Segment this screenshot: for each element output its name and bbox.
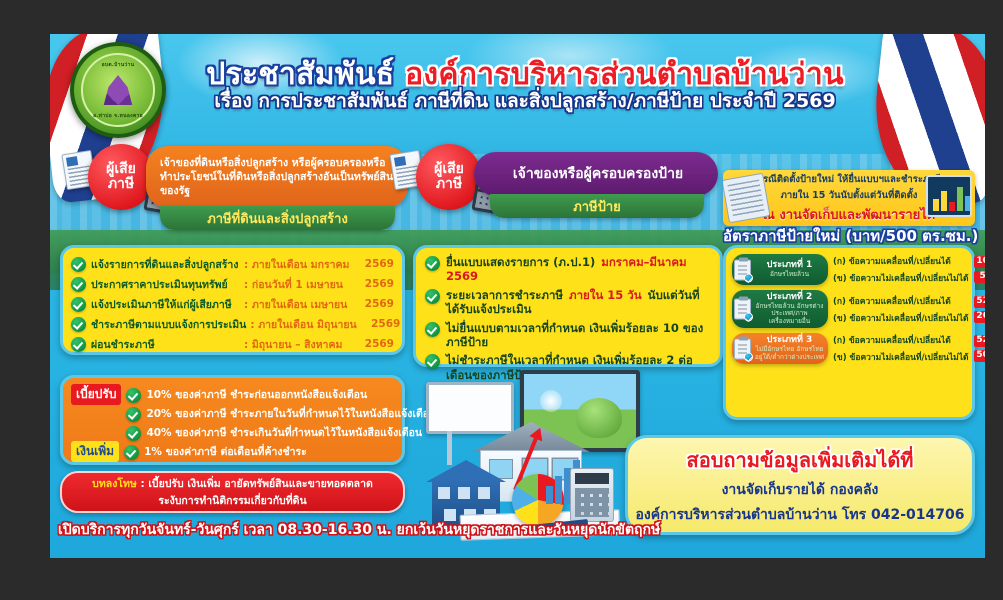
land-taxpayer-description: เจ้าของที่ดินหรือสิ่งปลูกสร้าง หรือผู้คร… [146, 146, 408, 208]
rate-category-sub: อักษรไทยล้วน อักษรต่างประเทศ/ภาพ เครื่อง… [754, 303, 825, 325]
penalty-text: 40% ของค่าภาษี ชำระเกินวันที่กำหนดไว้ในห… [146, 424, 422, 441]
taxpayer-badge-land-line1: ผู้เสีย [106, 162, 136, 177]
punishment-tag: บทลงโทษ [92, 478, 137, 490]
sign-tax-rules-card: ยื่นแบบแสดงรายการ (ภ.ป.1) มกราคม–มีนาคม … [413, 245, 723, 367]
schedule-year: 2569 [360, 258, 394, 270]
rate-line-text: (ก) ข้อความแคลื่อนที่/เปลี่ยนได้ [833, 294, 969, 308]
sign-taxpayer-description-text: เจ้าของหรือผู้ครอบครองป้าย [513, 163, 683, 185]
rate-value: 50 [974, 350, 985, 362]
penalty-tag-fine: เบี้ยปรับ [71, 384, 121, 405]
rate-line-text: (ข) ข้อความไม่เคลื่อนที่/เปลี่ยนไม่ได้ [833, 271, 969, 285]
table-row: แจ้งรายการที่ดินและสิ่งปลูกสร้าง : ภายใน… [71, 254, 394, 274]
notice-line-2: ภายใน 15 วันนับตั้งแต่วันที่ติดตั้ง [781, 188, 918, 203]
taxpayer-badge-sign-line1: ผู้เสีย [434, 162, 464, 177]
check-icon [126, 407, 141, 422]
check-icon [425, 289, 440, 304]
schedule-value: : ภายในเดือน มกราคม [244, 256, 356, 273]
contact-heading: สอบถามข้อมูลเพิ่มเติมได้ที่ [686, 444, 913, 476]
clipboard-check-icon [734, 338, 751, 359]
contact-org-phone[interactable]: องค์การบริหารส่วนตำบลบ้านว่าน โทร 042-01… [636, 504, 965, 526]
schedule-year: 2569 [360, 338, 394, 350]
table-row: แจ้งประเมินภาษีให้แก่ผู้เสียภาษี : ภายใน… [71, 294, 394, 314]
rate-line-text: (ข) ข้อความไม่เคลื่อนที่/เปลี่ยนไม่ได้ [833, 350, 969, 364]
table-row: ชำระภาษีตามแบบแจ้งการประเมิน : ภายในเดือ… [71, 314, 394, 334]
notice-line-3: ณ งานจัดเก็บและพัฒนารายได้ [763, 204, 935, 225]
rate-line-text: (ข) ข้อความไม่เคลื่อนที่/เปลี่ยนไม่ได้ [833, 311, 969, 325]
penalty-text: 20% ของค่าภาษี ชำระภายในวันที่กำหนดไว้ใน… [146, 405, 436, 422]
logo-top-text: อบต.บ้านว่าน [83, 61, 153, 69]
check-icon [425, 256, 440, 271]
temple-emblem-icon [101, 75, 135, 105]
penalty-tag-extra: เงินเพิ่ม [71, 441, 119, 462]
rate-value: 10 [974, 256, 985, 268]
land-taxpayer-description-text: เจ้าของที่ดินหรือสิ่งปลูกสร้าง หรือผู้คร… [160, 156, 398, 199]
schedule-label: ชำระภาษีตามแบบแจ้งการประเมิน [91, 316, 246, 333]
monitor-chart-icon [926, 175, 972, 217]
check-icon [71, 257, 86, 272]
rule-highlight: ภายใน 15 วัน [567, 288, 644, 302]
tab-sign-tax[interactable]: ภาษีป้าย [490, 194, 704, 218]
tab-land-tax[interactable]: ภาษีที่ดินและสิ่งปลูกสร้าง [160, 206, 395, 230]
contact-department: งานจัดเก็บรายได้ กองคลัง [722, 479, 879, 501]
schedule-label: ผ่อนชำระภาษี [91, 336, 240, 353]
sign-taxpayer-description: เจ้าของหรือผู้ครอบครองป้าย [474, 152, 718, 196]
clipboard-check-icon [734, 259, 751, 280]
check-icon [425, 322, 440, 337]
check-icon [71, 277, 86, 292]
list-item: ไม่ยื่นแบบตามเวลาที่กำหนด เงินเพิ่มร้อยล… [425, 321, 711, 350]
rate-category-3: ประเภทที่ 3 ไม่มีอักษรไทย อักษรไทยอยู่ใต… [732, 333, 828, 364]
list-item: เบี้ยปรับ 40% ของค่าภาษี ชำระเกินวันที่ก… [71, 423, 394, 442]
calculator-large-icon [570, 468, 614, 522]
rate-category-1: ประเภทที่ 1 อักษรไทยล้วน [732, 254, 828, 285]
schedule-label: ประกาศราคาประเมินทุนทรัพย์ [91, 276, 240, 293]
punishment-bar: บทลงโทษ : เบี้ยปรับ เงินเพิ่ม อายัดทรัพย… [60, 471, 405, 513]
schedule-year: 2569 [366, 318, 400, 330]
table-row: ประเภทที่ 1 อักษรไทยล้วน (ก) ข้อความแคลื… [732, 254, 966, 285]
penalty-text: 10% ของค่าภาษี ชำระก่อนออกหนังสือแจ้งเตื… [146, 386, 367, 403]
schedule-label: แจ้งรายการที่ดินและสิ่งปลูกสร้าง [91, 256, 240, 273]
table-row: ผ่อนชำระภาษี : มิถุนายน – สิงหาคม 2569 [71, 334, 394, 354]
check-icon [126, 426, 141, 441]
land-tax-schedule-card: แจ้งรายการที่ดินและสิ่งปลูกสร้าง : ภายใน… [60, 245, 405, 355]
tablet-document-icon [723, 173, 771, 224]
check-icon [124, 445, 139, 460]
office-hours: เปิดบริการทุกวันจันทร์-วันศุกร์ เวลา 08.… [58, 519, 618, 541]
check-icon [71, 317, 86, 332]
schedule-value: : ภายในเดือน มิถุนายน [250, 316, 362, 333]
rate-value: 5 [974, 271, 985, 283]
punishment-line-1: : เบี้ยปรับ เงินเพิ่ม อายัดทรัพย์สินและข… [140, 478, 372, 490]
contact-card: สอบถามข้อมูลเพิ่มเติมได้ที่ งานจัดเก็บรา… [625, 435, 975, 535]
new-sign-notice: กรณีติดตั้งป้ายใหม่ ให้ยื่นแบบฯและชำระภา… [723, 170, 975, 226]
rule-text: ยื่นแบบแสดงรายการ (ภ.ป.1) [446, 255, 599, 269]
check-icon [126, 388, 141, 403]
schedule-value: : ภายในเดือน เมษายน [244, 296, 356, 313]
table-row: ประเภทที่ 2 อักษรไทยล้วน อักษรต่างประเทศ… [732, 290, 966, 328]
list-item: เบี้ยปรับ 10% ของค่าภาษี ชำระก่อนออกหนัง… [71, 385, 394, 404]
poster: อบต.บ้านว่าน อ.ท่าบ่อ จ.หนองคาย ประชาสัม… [50, 34, 985, 558]
rate-value: 26 [974, 311, 985, 323]
notice-line-1: กรณีติดตั้งป้ายใหม่ ให้ยื่นแบบฯและชำระภา… [757, 172, 941, 187]
schedule-value: : ก่อนวันที่ 1 เมษายน [244, 276, 356, 293]
rate-category-2: ประเภทที่ 2 อักษรไทยล้วน อักษรต่างประเทศ… [732, 290, 828, 328]
logo-bottom-text: อ.ท่าบ่อ จ.หนองคาย [83, 112, 153, 120]
list-item: เงินเพิ่ม 1% ของค่าภาษี ต่อเดือนที่ค้างช… [71, 442, 394, 461]
organization-logo: อบต.บ้านว่าน อ.ท่าบ่อ จ.หนองคาย [70, 42, 166, 138]
page-subtitle: เรื่อง การประชาสัมพันธ์ ภาษีที่ดิน และสิ… [175, 86, 875, 116]
schedule-label: แจ้งประเมินภาษีให้แก่ผู้เสียภาษี [91, 296, 240, 313]
rate-category-sub: อักษรไทยล้วน [770, 271, 809, 278]
taxpayer-badge-land-line2: ภาษี [108, 177, 134, 192]
check-icon [71, 297, 86, 312]
rate-category-sub: ไม่มีอักษรไทย อักษรไทยอยู่ใต้/ต่ำกว่าต่า… [754, 346, 825, 361]
table-row: ประกาศราคาประเมินทุนทรัพย์ : ก่อนวันที่ … [71, 274, 394, 294]
penalty-text: 1% ของค่าภาษี ต่อเดือนที่ค้างชำระ [144, 443, 307, 460]
rule-text: ระยะเวลาการชำระภาษี [446, 288, 567, 302]
schedule-value: : มิถุนายน – สิงหาคม [244, 336, 356, 353]
taxpayer-badge-sign-line2: ภาษี [436, 177, 462, 192]
sign-rate-table-card: ประเภทที่ 1 อักษรไทยล้วน (ก) ข้อความแคลื… [723, 245, 975, 420]
schedule-year: 2569 [360, 278, 394, 290]
rate-value: 52 [974, 296, 985, 308]
punishment-line-2: ระงับการทำนิติกรรมเกี่ยวกับที่ดิน [158, 492, 306, 509]
rate-line-text: (ก) ข้อความแคลื่อนที่/เปลี่ยนได้ [833, 254, 969, 268]
billboard-house-illustration [420, 364, 650, 539]
rate-line-text: (ก) ข้อความแคลื่อนที่/เปลี่ยนได้ [833, 333, 969, 347]
list-item: เบี้ยปรับ 20% ของค่าภาษี ชำระภายในวันที่… [71, 404, 394, 423]
list-item: ยื่นแบบแสดงรายการ (ภ.ป.1) มกราคม–มีนาคม … [425, 255, 711, 284]
rate-value: 52 [974, 335, 985, 347]
rule-text: ไม่ยื่นแบบตามเวลาที่กำหนด เงินเพิ่มร้อยล… [446, 321, 711, 350]
clipboard-check-icon [734, 299, 751, 320]
table-row: ประเภทที่ 3 ไม่มีอักษรไทย อักษรไทยอยู่ใต… [732, 333, 966, 364]
penalty-card: เบี้ยปรับ 10% ของค่าภาษี ชำระก่อนออกหนัง… [60, 375, 405, 465]
schedule-year: 2569 [360, 298, 394, 310]
list-item: ระยะเวลาการชำระภาษี ภายใน 15 วัน นับแต่ว… [425, 288, 711, 317]
check-icon [71, 337, 86, 352]
